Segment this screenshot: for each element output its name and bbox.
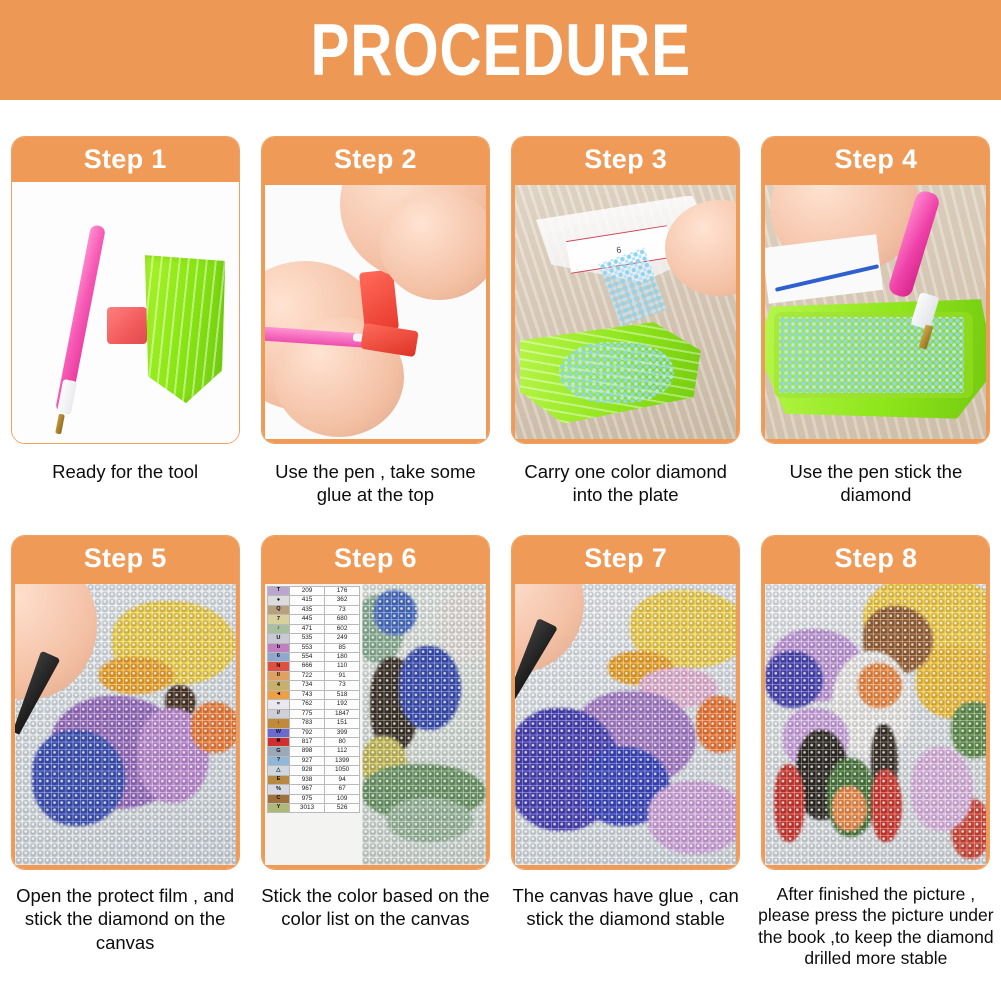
color-list-row: ?9271399 — [267, 756, 359, 765]
step-cell-4: Step 4 — [751, 136, 1001, 507]
bead-grid-lines — [362, 584, 486, 865]
pick-diamond-illustration — [765, 185, 986, 439]
color-list-row: ♪471602 — [267, 624, 359, 633]
step-caption-4: Use the pen stick the diamond — [758, 460, 994, 507]
color-symbol-swatch: II — [267, 671, 289, 680]
color-list-row: C975109 — [267, 794, 359, 803]
color-list-row: E93894 — [267, 775, 359, 784]
step-image-5 — [12, 581, 239, 869]
step-caption-8: After finished the picture , please pres… — [754, 884, 998, 969]
color-count-cell: 67 — [325, 785, 360, 794]
color-count-cell: 518 — [325, 690, 360, 699]
color-symbol-swatch: W — [267, 728, 289, 737]
color-list-row: Q43573 — [267, 605, 359, 614]
color-code-cell: 743 — [290, 690, 325, 699]
step-cell-3: Step 3 6 — [501, 136, 751, 507]
mosaic-canvas-illustration — [362, 584, 486, 865]
color-symbol-swatch: U — [267, 634, 289, 643]
color-code-cell: 535 — [290, 634, 325, 643]
color-count-cell: 1847 — [325, 709, 360, 718]
color-code-cell: 975 — [290, 794, 325, 803]
color-list-row: Y3013526 — [267, 804, 359, 813]
page-header-banner: PROCEDURE — [0, 0, 1001, 100]
step-image-6: T209176●415362Q435737445680♪471602U53524… — [262, 581, 489, 869]
color-count-cell: 176 — [325, 586, 360, 595]
color-symbol-swatch: C — [267, 794, 289, 803]
step-badge-7: Step 7 — [512, 536, 739, 581]
blue-diamonds-pile — [559, 342, 674, 403]
step-card-8[interactable]: Step 8 — [761, 535, 990, 870]
color-symbol-swatch: ● — [267, 596, 289, 605]
step-badge-3: Step 3 — [512, 137, 739, 182]
step-card-5[interactable]: Step 5 — [11, 535, 240, 870]
step-cell-6: Step 6 T209176●415362Q435737445680♪47160… — [250, 535, 500, 969]
color-code-cell: 471 — [290, 624, 325, 633]
color-list-row: =762192 — [267, 700, 359, 709]
color-count-cell: 73 — [325, 605, 360, 614]
color-symbol-swatch: 6 — [267, 653, 289, 662]
color-symbol-swatch: ♪ — [267, 624, 289, 633]
color-code-cell: 3013 — [290, 804, 325, 813]
step-badge-label-2: Step 2 — [334, 146, 417, 173]
color-code-cell: 775 — [290, 709, 325, 718]
color-code-cell: 938 — [290, 775, 325, 784]
color-symbol-swatch: E — [267, 775, 289, 784]
color-count-cell: 112 — [325, 747, 360, 756]
color-list-row: ↑783151 — [267, 719, 359, 728]
color-count-cell: 110 — [325, 662, 360, 671]
color-symbol-swatch: △ — [267, 766, 289, 775]
steps-row-top: Step 1 — [0, 100, 1001, 507]
color-symbol-swatch: b — [267, 643, 289, 652]
step-cell-5: Step 5 — [0, 535, 250, 969]
color-code-cell: 783 — [290, 719, 325, 728]
color-symbol-swatch: ? — [267, 756, 289, 765]
color-list-row: ✖81780 — [267, 737, 359, 746]
color-symbol-swatch: ↑ — [267, 719, 289, 728]
step-badge-4: Step 4 — [762, 137, 989, 182]
color-list-row: ●415362 — [267, 596, 359, 605]
blue-diamonds-pile — [779, 317, 965, 393]
step-image-4 — [762, 182, 989, 443]
step-image-3: 6 — [512, 182, 739, 443]
hand-right-thumb-icon — [380, 190, 486, 300]
color-symbol-swatch: 7 — [267, 615, 289, 624]
step-image-1 — [12, 182, 239, 443]
hands-glue-illustration — [265, 185, 486, 439]
bead-grid-lines — [765, 584, 986, 865]
step-badge-5: Step 5 — [12, 536, 239, 581]
color-code-cell: 928 — [290, 766, 325, 775]
color-code-cell: 415 — [290, 596, 325, 605]
color-list-row: W792399 — [267, 728, 359, 737]
color-code-cell: 898 — [290, 747, 325, 756]
steps-grid: Step 1 — [0, 100, 1001, 969]
step-card-1[interactable]: Step 1 — [11, 136, 240, 444]
color-count-cell: 180 — [325, 653, 360, 662]
color-symbol-swatch: Q — [267, 605, 289, 614]
color-count-cell: 80 — [325, 737, 360, 746]
color-list-row: %96767 — [267, 785, 359, 794]
color-list-row: //7751847 — [267, 709, 359, 718]
step-card-4[interactable]: Step 4 — [761, 136, 990, 444]
color-code-cell: 435 — [290, 605, 325, 614]
color-count-cell: 73 — [325, 681, 360, 690]
step-cell-2: Step 2 — [250, 136, 500, 507]
color-code-cell: 554 — [290, 653, 325, 662]
color-symbol-swatch: ◄ — [267, 690, 289, 699]
color-code-cell: 722 — [290, 671, 325, 680]
step-caption-3: Carry one color diamond into the plate — [508, 460, 744, 507]
tray-grooves — [143, 255, 225, 403]
color-count-cell: 109 — [325, 794, 360, 803]
color-list-and-canvas: T209176●415362Q435737445680♪471602U53524… — [265, 584, 486, 865]
color-code-cell: 209 — [290, 586, 325, 595]
step-caption-1: Ready for the tool — [7, 460, 243, 483]
step-cell-7: Step 7 — [501, 535, 751, 969]
color-code-cell: 817 — [290, 737, 325, 746]
color-list-table: T209176●415362Q435737445680♪471602U53524… — [267, 586, 360, 814]
color-count-cell: 192 — [325, 700, 360, 709]
step-card-3[interactable]: Step 3 6 — [511, 136, 740, 444]
color-list-row: △9281050 — [267, 766, 359, 775]
procedure-infographic: PROCEDURE Step 1 — [0, 0, 1001, 1001]
pour-diamonds-illustration: 6 — [515, 185, 736, 439]
step-caption-5: Open the protect film , and stick the di… — [3, 884, 247, 954]
tools-illustration — [12, 182, 239, 443]
finished-mosaic-illustration — [765, 584, 986, 865]
color-count-cell: 94 — [325, 775, 360, 784]
step-badge-6: Step 6 — [262, 536, 489, 581]
color-symbol-swatch: ✖ — [267, 737, 289, 746]
color-list-row: 7445680 — [267, 615, 359, 624]
color-count-cell: 1050 — [325, 766, 360, 775]
color-count-cell: 399 — [325, 728, 360, 737]
color-count-cell: 249 — [325, 634, 360, 643]
color-list-body: T209176●415362Q435737445680♪471602U53524… — [267, 586, 359, 813]
color-list-row: U535249 — [267, 634, 359, 643]
step-badge-label-1: Step 1 — [84, 146, 167, 173]
glue-clay-icon — [107, 307, 147, 344]
step-card-2[interactable]: Step 2 — [261, 136, 490, 444]
color-list-row: ◄743518 — [267, 690, 359, 699]
step-badge-label-4: Step 4 — [834, 146, 917, 173]
color-count-cell: 1399 — [325, 756, 360, 765]
color-count-cell: 526 — [325, 804, 360, 813]
mosaic-canvas-illustration — [515, 584, 736, 865]
color-list-panel: T209176●415362Q435737445680♪471602U53524… — [265, 584, 362, 865]
color-code-cell: 553 — [290, 643, 325, 652]
color-code-cell: 734 — [290, 681, 325, 690]
color-count-cell: 362 — [325, 596, 360, 605]
step-caption-2: Use the pen , take some glue at the top — [257, 460, 493, 507]
step-caption-7: The canvas have glue , can stick the dia… — [504, 884, 748, 931]
step-caption-6: Stick the color based on the color list … — [253, 884, 497, 931]
pen-nib-icon — [55, 414, 65, 435]
color-symbol-swatch: G — [267, 747, 289, 756]
color-list-row: N666110 — [267, 662, 359, 671]
steps-row-bottom: Step 5 — [0, 507, 1001, 969]
step-cell-1: Step 1 — [0, 136, 250, 507]
step-badge-label-5: Step 5 — [84, 545, 167, 572]
step-image-8 — [762, 581, 989, 869]
color-list-row: T209176 — [267, 586, 359, 595]
step-badge-8: Step 8 — [762, 536, 989, 581]
color-symbol-swatch: N — [267, 662, 289, 671]
color-count-cell: 85 — [325, 643, 360, 652]
color-code-cell: 445 — [290, 615, 325, 624]
color-list-row: II72291 — [267, 671, 359, 680]
color-code-cell: 666 — [290, 662, 325, 671]
color-count-cell: 602 — [325, 624, 360, 633]
step-card-6[interactable]: Step 6 T209176●415362Q435737445680♪47160… — [261, 535, 490, 870]
color-code-cell: 927 — [290, 756, 325, 765]
color-list-row: b55385 — [267, 643, 359, 652]
color-symbol-swatch: 4 — [267, 681, 289, 690]
color-symbol-swatch: = — [267, 700, 289, 709]
step-image-2 — [262, 182, 489, 443]
step-badge-label-8: Step 8 — [834, 545, 917, 572]
color-symbol-swatch: T — [267, 586, 289, 595]
color-list-row: G898112 — [267, 747, 359, 756]
color-code-cell: 792 — [290, 728, 325, 737]
color-symbol-swatch: // — [267, 709, 289, 718]
step-badge-1: Step 1 — [12, 137, 239, 182]
color-code-cell: 967 — [290, 785, 325, 794]
color-code-cell: 762 — [290, 700, 325, 709]
color-symbol-swatch: % — [267, 785, 289, 794]
step-image-7 — [512, 581, 739, 869]
mosaic-canvas-illustration — [15, 584, 236, 865]
step-badge-label-3: Step 3 — [584, 146, 667, 173]
color-count-cell: 91 — [325, 671, 360, 680]
color-list-row: 6554180 — [267, 653, 359, 662]
step-card-7[interactable]: Step 7 — [511, 535, 740, 870]
color-count-cell: 151 — [325, 719, 360, 728]
step-badge-label-6: Step 6 — [334, 545, 417, 572]
step-badge-2: Step 2 — [262, 137, 489, 182]
page-title: PROCEDURE — [310, 14, 690, 87]
color-symbol-swatch: Y — [267, 804, 289, 813]
step-cell-8: Step 8 — [751, 535, 1001, 969]
color-list-row: 473473 — [267, 681, 359, 690]
step-badge-label-7: Step 7 — [584, 545, 667, 572]
color-count-cell: 680 — [325, 615, 360, 624]
